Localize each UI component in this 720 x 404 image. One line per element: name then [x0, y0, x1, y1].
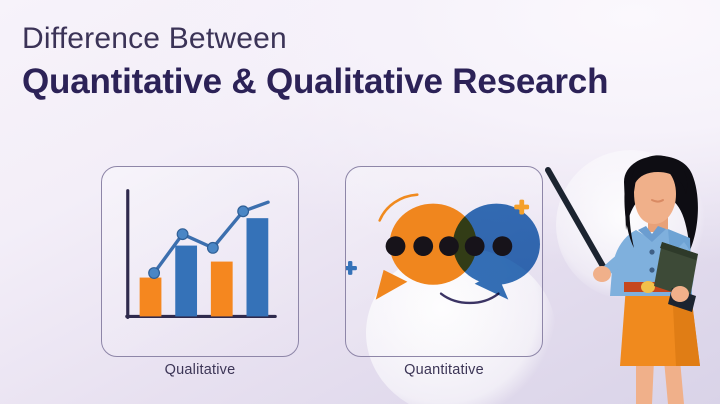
card-caption-qualitative: Qualitative [101, 362, 299, 378]
hand-left [593, 266, 611, 282]
bar-4 [247, 218, 269, 316]
hand-right [671, 286, 689, 302]
page-kicker: Difference Between [22, 22, 712, 56]
card-quantitative[interactable] [345, 166, 543, 357]
bar-chart-with-trend-line-icon [102, 167, 298, 356]
leg-left [636, 360, 654, 404]
poster-canvas: Difference Between Quantitative & Qualit… [0, 0, 720, 404]
bar-2 [175, 246, 197, 317]
heading-block: Difference Between Quantitative & Qualit… [22, 22, 712, 102]
card-qualitative[interactable] [101, 166, 299, 357]
belt-buckle [641, 281, 655, 293]
card-caption-quantitative: Quantitative [345, 362, 543, 378]
arc-navy-decoration [441, 294, 498, 303]
woman-teacher-illustration [540, 146, 720, 404]
leg-right [664, 360, 684, 404]
plus-left-icon [346, 261, 357, 275]
page-title: Quantitative & Qualitative Research [22, 62, 712, 102]
overlapping-speech-bubbles-icon [346, 167, 542, 356]
pointer-stick-icon [548, 170, 604, 268]
bar-3 [211, 262, 233, 317]
bar-1 [140, 278, 162, 317]
